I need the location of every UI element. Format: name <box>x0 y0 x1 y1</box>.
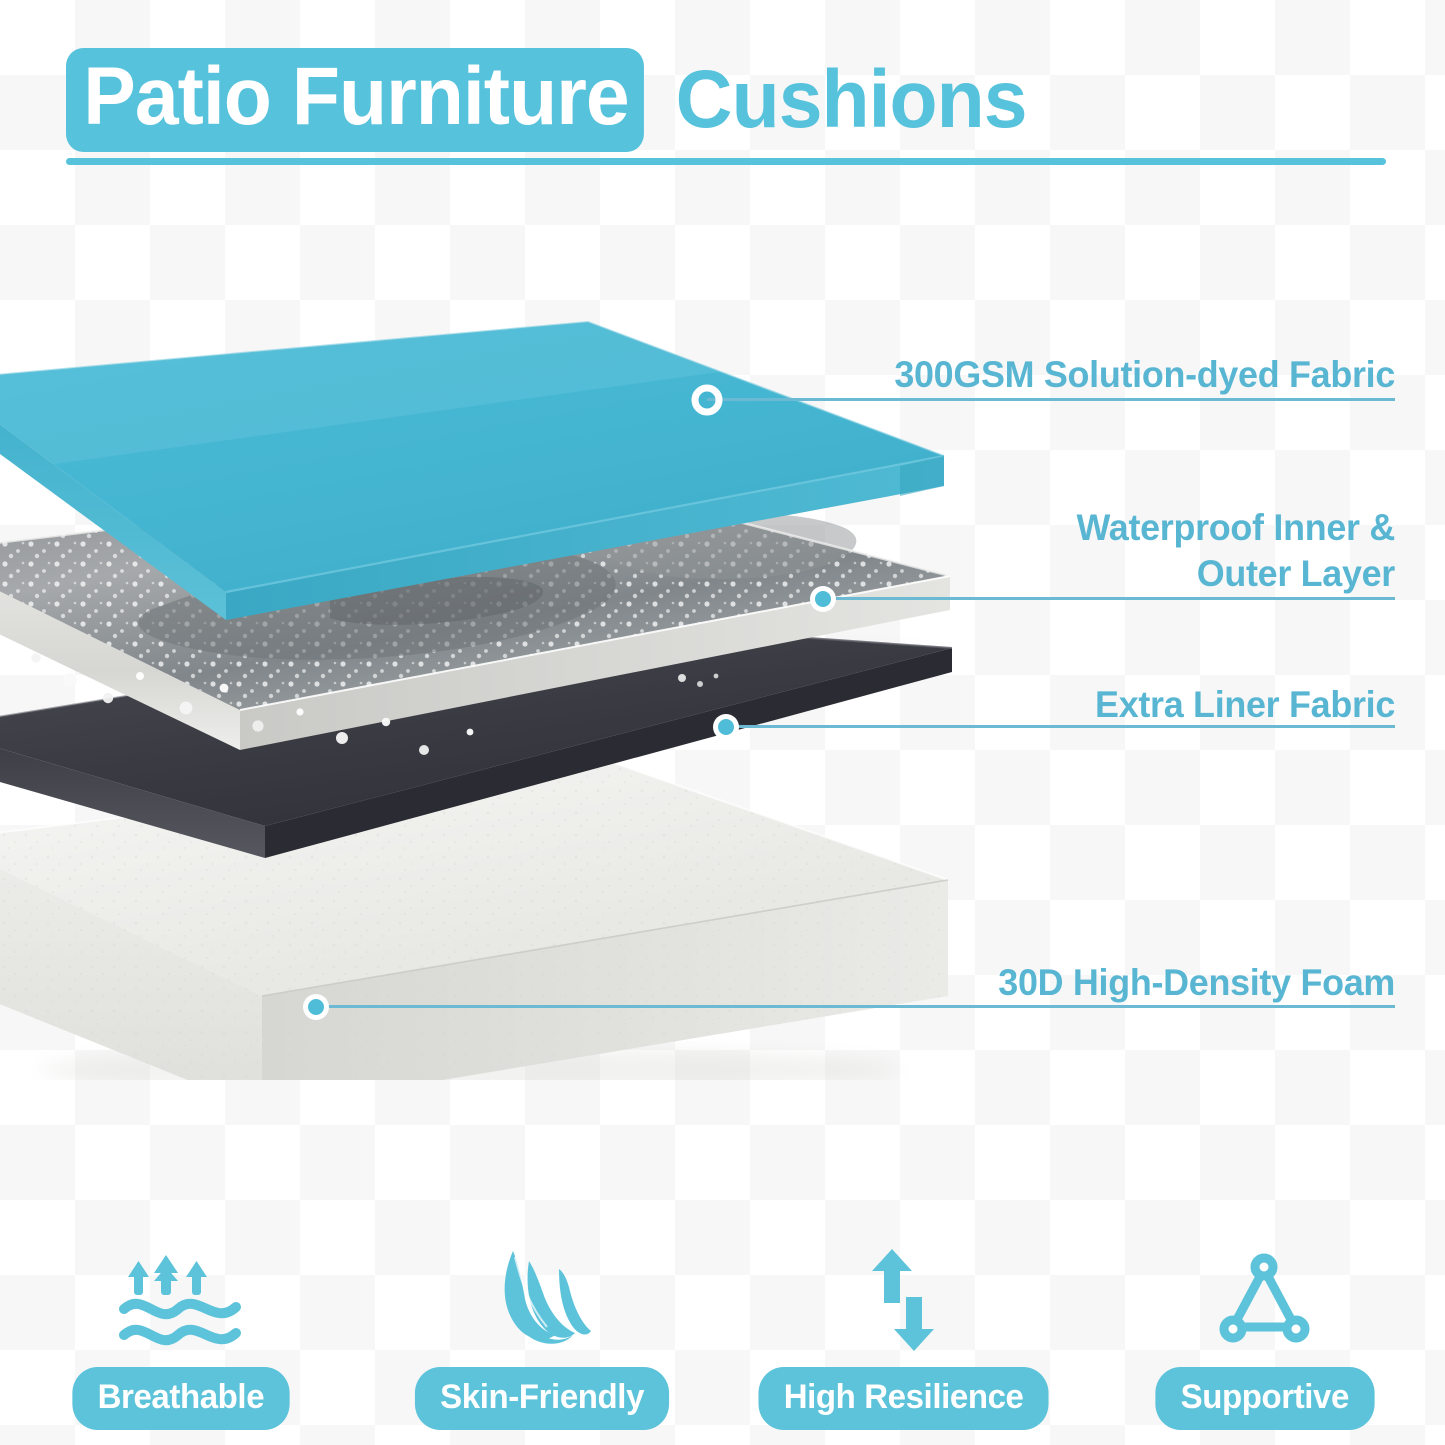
title-plain: Cushions <box>668 53 1027 147</box>
callout-label-foam: 30D High-Density Foam <box>755 960 1395 1006</box>
up-down-arrows-icon <box>828 1247 978 1355</box>
callout-label-liner: Extra Liner Fabric <box>755 682 1395 728</box>
callout-line-waterproof <box>825 597 1395 600</box>
callout-line-fabric <box>707 398 1395 401</box>
marker-dot-foam <box>299 990 333 1029</box>
feature-breathable[interactable]: Breathable <box>0 1215 361 1430</box>
product-infographic: Patio Furniture Cushions <box>0 0 1445 1445</box>
feature-label-breathable: Breathable <box>72 1367 289 1430</box>
feature-high-resilience[interactable]: High Resilience <box>723 1215 1084 1430</box>
feature-skin-friendly[interactable]: Skin-Friendly <box>361 1215 722 1430</box>
feature-badge-row: Breathable Skin-Friendly <box>0 1215 1445 1430</box>
triangle-nodes-icon <box>1189 1247 1339 1355</box>
marker-dot-liner <box>709 710 743 749</box>
title-highlight: Patio Furniture <box>66 48 644 152</box>
feature-label-skin-friendly: Skin-Friendly <box>415 1367 669 1430</box>
marker-ring-fabric <box>690 383 724 422</box>
feature-supportive[interactable]: Supportive <box>1084 1215 1445 1430</box>
feature-label-high-resilience: High Resilience <box>758 1367 1048 1430</box>
feature-label-supportive: Supportive <box>1155 1367 1374 1430</box>
title-underline <box>66 158 1386 165</box>
feather-icon <box>467 1247 617 1355</box>
callout-label-fabric: 300GSM Solution-dyed Fabric <box>755 352 1395 398</box>
callout-label-waterproof: Waterproof Inner & Outer Layer <box>755 505 1395 597</box>
page-title: Patio Furniture Cushions <box>66 52 1386 170</box>
breathable-airflow-waves-icon <box>106 1247 256 1355</box>
